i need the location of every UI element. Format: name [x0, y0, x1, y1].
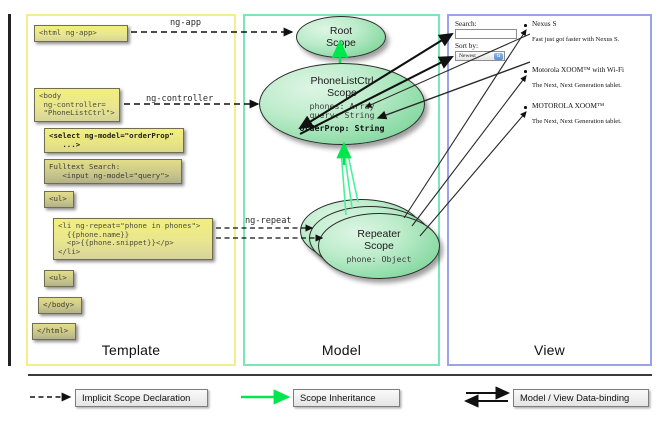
- scope-repeater-props: phone: Object: [347, 255, 412, 265]
- left-vertical-rule: [8, 14, 11, 366]
- diagram-canvas: Template Model View <html ng-app> <body …: [0, 0, 661, 425]
- connector-label-ng-repeat: ng-repeat: [245, 216, 292, 226]
- code-box-ul-close: <ul>: [44, 270, 74, 287]
- phone-snippet: The Next, Next Generation tablet.: [532, 82, 622, 89]
- scope-phonelistctrl-props-plain: phones: Array query: String: [310, 102, 375, 121]
- phone-snippet: Fast just got faster with Nexus S.: [532, 36, 619, 43]
- code-box-li-ng-repeat: <li ng-repeat="phone in phones"> {{phone…: [53, 218, 213, 260]
- scope-phonelistctrl-props-bold: orderProp: String: [300, 124, 385, 134]
- view-search-label: Search:: [455, 20, 477, 28]
- code-box-ul-open: <ul>: [44, 191, 74, 208]
- panel-view-label: View: [449, 342, 650, 358]
- code-box-body-open: <body ng-controller= "PhoneListCtrl">: [34, 88, 120, 122]
- scope-phonelistctrl-title: PhoneListCtrl Scope: [310, 75, 373, 99]
- phone-name[interactable]: Nexus S: [532, 19, 557, 28]
- chevron-updown-icon: ⇅: [494, 53, 503, 60]
- panel-model-label: Model: [245, 342, 438, 358]
- phone-name[interactable]: MOTOROLA XOOM™: [532, 101, 604, 110]
- code-box-html-close: </html>: [32, 323, 76, 340]
- legend-divider-rule: [28, 374, 652, 376]
- search-input[interactable]: [455, 29, 517, 39]
- scope-repeater: Repeater Scope phone: Object: [318, 213, 440, 279]
- list-bullet: [524, 24, 527, 27]
- sort-by-select[interactable]: Newest ⇅: [455, 51, 505, 61]
- connector-label-ng-controller: ng-controller: [146, 94, 213, 104]
- code-box-html-open: <html ng-app>: [34, 25, 128, 42]
- connector-label-ng-app: ng-app: [170, 18, 201, 28]
- scope-root: Root Scope: [296, 16, 386, 58]
- phone-name[interactable]: Motorola XOOM™ with Wi-Fi: [532, 65, 624, 74]
- code-box-body-close: </body>: [38, 297, 82, 314]
- code-box-select: <select ng-model="orderProp" ...>: [44, 128, 184, 153]
- code-box-fulltext-search: Fulltext Search: <input ng-model="query"…: [44, 159, 182, 184]
- legend-item-implicit-scope-declaration: Implicit Scope Declaration: [75, 389, 208, 407]
- scope-repeater-title: Repeater Scope: [357, 228, 400, 252]
- legend-item-scope-inheritance: Scope Inheritance: [293, 389, 400, 407]
- list-bullet: [524, 106, 527, 109]
- sort-by-value: Newest: [459, 53, 476, 59]
- list-bullet: [524, 70, 527, 73]
- scope-root-title: Root Scope: [326, 25, 356, 49]
- legend-item-model-view-databinding: Model / View Data-binding: [513, 389, 649, 407]
- view-sortby-label: Sort by:: [455, 42, 478, 50]
- panel-template-label: Template: [28, 342, 234, 358]
- phone-snippet: The Next, Next Generation tablet.: [532, 118, 622, 125]
- scope-phonelistctrl: PhoneListCtrl Scope phones: Array query:…: [259, 63, 425, 145]
